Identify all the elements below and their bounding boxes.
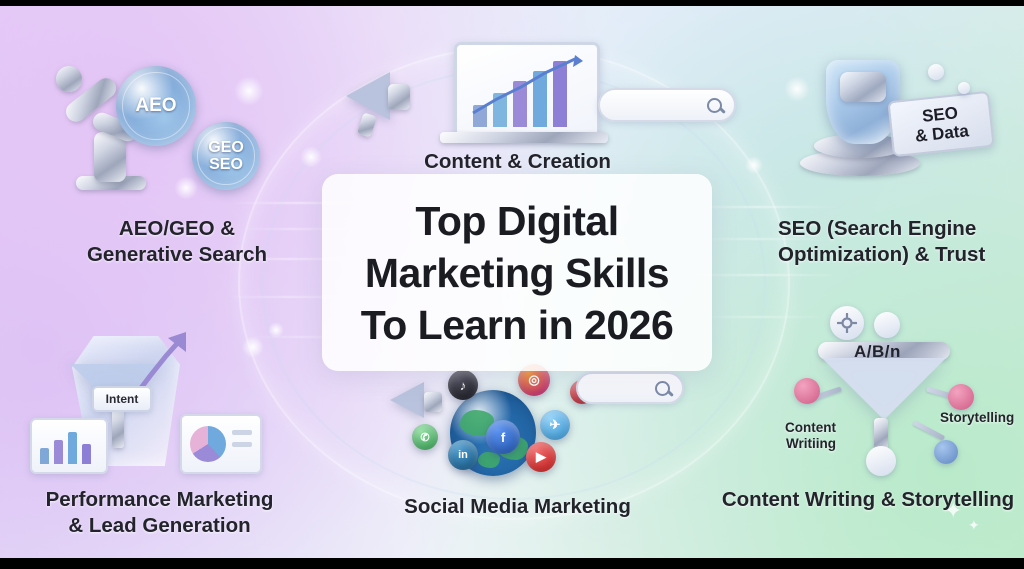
- label-seo-trust: SEO (Search Engine Optimization) & Trust: [778, 216, 1024, 268]
- label-line: AEO/GEO &: [52, 216, 302, 242]
- twitter-glyph: ✈: [550, 417, 561, 433]
- search-icon: [655, 381, 670, 396]
- glow-dot: [242, 336, 264, 358]
- megaphone-body: [424, 392, 442, 412]
- linkedin-glyph: in: [458, 449, 468, 461]
- title-line: Marketing Skills: [361, 247, 674, 299]
- glow-dot: [784, 76, 810, 102]
- chart-bar: [68, 432, 77, 464]
- doc-node-icon: [874, 312, 900, 338]
- twitter-icon: ✈: [540, 410, 570, 440]
- aeo-geo-illustration: AEO GEO SEO: [48, 36, 298, 211]
- label-line: Content & Creation: [395, 149, 640, 175]
- globe-land: [478, 452, 500, 468]
- persona-node-icon: [948, 384, 974, 410]
- legend-line: [232, 442, 252, 447]
- label-line: Content Writing & Storytelling: [712, 487, 1024, 513]
- glow-dot: [745, 156, 763, 174]
- seo-sign-line2: & Data: [914, 121, 970, 146]
- chart-bar: [82, 444, 91, 464]
- label-line: Optimization) & Trust: [778, 242, 1024, 268]
- facebook-icon: f: [486, 420, 520, 454]
- label-line: SEO (Search Engine: [778, 216, 1024, 242]
- sparkle-icon: ✦: [968, 518, 980, 532]
- storytelling-chip-label: Storytelling: [940, 410, 1014, 426]
- funnel-stem: [112, 408, 124, 448]
- instagram-glyph: ◎: [528, 372, 539, 388]
- light-streak: [688, 274, 848, 276]
- legend-line: [232, 430, 252, 435]
- dashboard-card: [30, 418, 108, 474]
- aeo-globe: AEO: [116, 66, 196, 146]
- chart-bar: [54, 440, 63, 464]
- globe-meridian: [122, 72, 189, 139]
- search-icon: [707, 98, 722, 113]
- label-performance-marketing: Performance Marketing & Lead Generation: [22, 487, 297, 539]
- facebook-glyph: f: [501, 430, 505, 445]
- search-bar[interactable]: [598, 88, 736, 122]
- tiktok-glyph: ♪: [460, 378, 467, 393]
- glow-dot: [234, 76, 264, 106]
- label-line: Content: [762, 420, 836, 436]
- megaphone-body: [388, 84, 410, 110]
- poster-canvas: ✦ ✦ AEO GEO SEO AEO/GEO & Generativ: [0, 6, 1024, 558]
- dashboard-card: [180, 414, 262, 474]
- glow-dot: [300, 146, 322, 168]
- linkedin-icon: in: [448, 440, 478, 470]
- glow-dot: [174, 176, 198, 200]
- trend-line-icon: [467, 53, 587, 123]
- poster-image: ✦ ✦ AEO GEO SEO AEO/GEO & Generativ: [0, 0, 1024, 569]
- title-card: Top Digital Marketing Skills To Learn in…: [322, 174, 712, 371]
- whatsapp-glyph: ✆: [420, 431, 429, 444]
- title-line: Top Digital: [361, 195, 674, 247]
- chart-bar: [40, 448, 49, 464]
- gear-glyph: [837, 313, 857, 333]
- label-line: Social Media Marketing: [385, 494, 650, 520]
- funnel-output-node: [866, 446, 896, 476]
- title-line: To Learn in 2026: [361, 299, 674, 351]
- youtube-glyph: ▶: [536, 449, 546, 465]
- label-aeo-geo: AEO/GEO & Generative Search: [52, 216, 302, 268]
- geo-seo-globe: GEO SEO: [192, 122, 260, 190]
- content-writing-chip-label: Content Writiing: [762, 420, 836, 452]
- gear-icon: [830, 306, 864, 340]
- whatsapp-icon: ✆: [412, 424, 438, 450]
- youtube-icon: ▶: [526, 442, 556, 472]
- globe-meridian: [197, 127, 254, 184]
- persona-node-icon: [794, 378, 820, 404]
- robot-joint: [56, 66, 82, 92]
- search-bar[interactable]: [576, 372, 684, 404]
- seo-data-sign: SEO & Data: [887, 91, 994, 157]
- label-line: Writiing: [762, 436, 836, 452]
- label-line: & Lead Generation: [22, 513, 297, 539]
- content-writing-illustration: A/B/n Content Writiing Storytelling: [800, 306, 1024, 486]
- label-content-writing: Content Writing & Storytelling: [712, 487, 1024, 513]
- label-social-media: Social Media Marketing: [385, 494, 650, 520]
- label-line: Performance Marketing: [22, 487, 297, 513]
- label-line: Generative Search: [52, 242, 302, 268]
- social-media-illustration: ♪ ◎ f ✈ in ▶ ✆ P: [390, 364, 690, 489]
- intent-chip: Intent: [92, 386, 152, 412]
- megaphone-icon: [390, 382, 424, 418]
- data-node: [958, 82, 970, 94]
- tiktok-icon: ♪: [448, 370, 478, 400]
- laptop-base: [440, 132, 608, 143]
- content-creation-illustration: [336, 28, 736, 153]
- label-content-creation: Content & Creation: [395, 149, 640, 175]
- intent-chip-label: Intent: [106, 392, 139, 406]
- seo-trust-illustration: SEO & Data: [780, 46, 1020, 211]
- pie-chart-icon: [190, 426, 226, 462]
- laptop-screen: [454, 42, 600, 138]
- page-title: Top Digital Marketing Skills To Learn in…: [351, 195, 684, 351]
- data-node: [928, 64, 944, 80]
- persona-node-icon: [934, 440, 958, 464]
- shield-visor: [840, 72, 886, 102]
- performance-marketing-illustration: Intent: [30, 326, 290, 486]
